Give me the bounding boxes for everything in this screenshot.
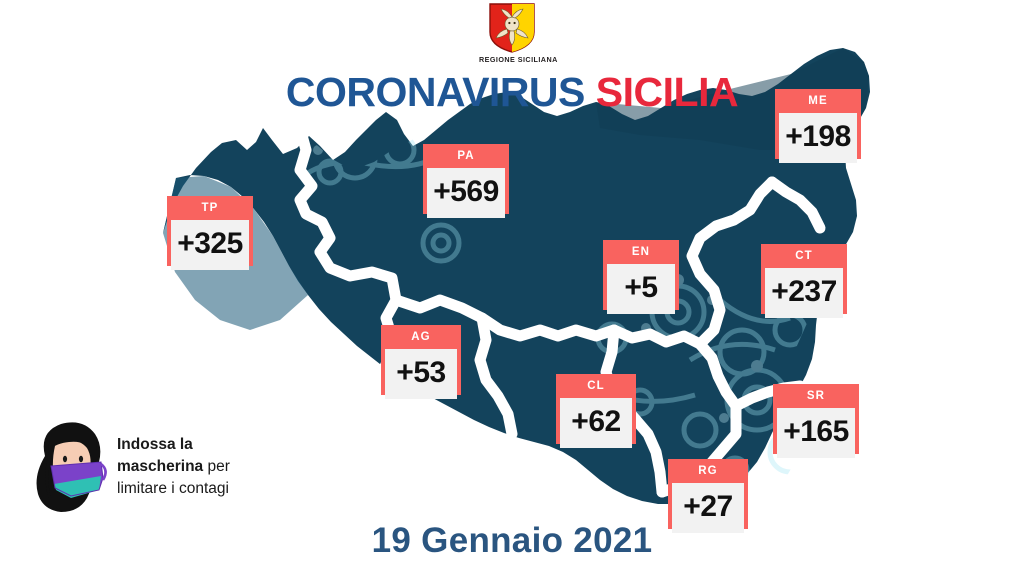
trinacria-icon — [484, 2, 540, 54]
province-box-pa[interactable]: PA +569 — [423, 144, 509, 214]
province-code: PA — [427, 148, 505, 168]
province-code: TP — [171, 200, 249, 220]
page-title: CORONAVIRUS SICILIA — [0, 72, 1024, 113]
province-box-en[interactable]: EN +5 — [603, 240, 679, 310]
province-value: +237 — [765, 268, 843, 318]
province-value: +62 — [560, 398, 632, 448]
title-sicilia: SICILIA — [596, 69, 738, 115]
mask-awareness-text: Indossa la mascherina per limitare i con… — [117, 434, 292, 500]
province-code: CL — [560, 378, 632, 398]
title-coronavirus: CORONAVIRUS — [286, 69, 585, 115]
woman-wearing-mask-icon — [25, 416, 111, 516]
province-code: AG — [385, 329, 457, 349]
province-box-sr[interactable]: SR +165 — [773, 384, 859, 454]
mask-text-line2: mascherina — [117, 458, 203, 475]
date-label: 19 Gennaio 2021 — [0, 521, 1024, 561]
regione-siciliana-emblem: REGIONE SICILIANA — [479, 2, 545, 64]
province-value: +325 — [171, 220, 249, 270]
province-box-rg[interactable]: RG +27 — [668, 459, 748, 529]
mask-text-line3: limitare i contagi — [117, 480, 229, 497]
province-box-tp[interactable]: TP +325 — [167, 196, 253, 266]
infographic-root: REGIONE SICILIANA CORONAVIRUS SICILIA TP… — [0, 0, 1024, 576]
province-box-cl[interactable]: CL +62 — [556, 374, 636, 444]
province-code: ME — [779, 93, 857, 113]
province-code: RG — [672, 463, 744, 483]
mask-text-per: per — [207, 458, 229, 475]
province-code: CT — [765, 248, 843, 268]
province-code: EN — [607, 244, 675, 264]
mask-text-line1: Indossa la — [117, 436, 193, 453]
province-box-ag[interactable]: AG +53 — [381, 325, 461, 395]
province-box-ct[interactable]: CT +237 — [761, 244, 847, 314]
province-value: +5 — [607, 264, 675, 314]
province-value: +165 — [777, 408, 855, 458]
emblem-caption: REGIONE SICILIANA — [479, 55, 545, 64]
province-value: +569 — [427, 168, 505, 218]
province-box-me[interactable]: ME +198 — [775, 89, 861, 159]
province-code: SR — [777, 388, 855, 408]
province-value: +53 — [385, 349, 457, 399]
mask-awareness-block: Indossa la mascherina per limitare i con… — [25, 416, 287, 520]
province-value: +198 — [779, 113, 857, 163]
